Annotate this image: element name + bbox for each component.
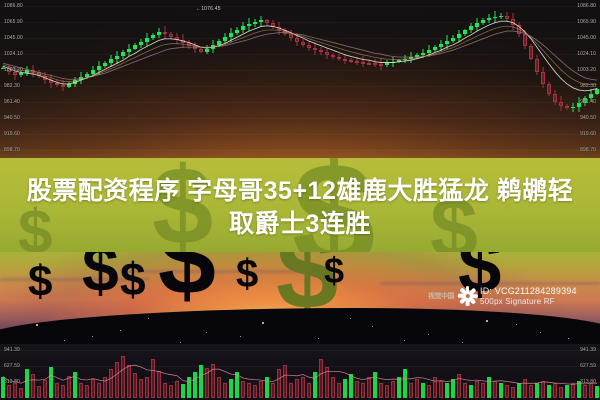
candle-body [61,85,65,87]
candlestick [385,60,389,67]
candle-body [175,37,179,40]
candlestick [181,34,185,48]
candle-body [133,45,137,49]
dollar-sign-4: $ [158,252,216,308]
volume-bar [457,374,461,399]
candlestick [259,16,263,26]
candle-body [211,45,215,49]
volume-bar [253,385,257,398]
dollar-sign-5: $ [236,256,258,293]
volume-bar [319,359,323,398]
candle-body [145,38,149,42]
price-tick-label: 1086.80 [4,3,23,9]
volume-tick-label: 941.39 [4,347,20,353]
candle-body [457,34,461,38]
candle-body [355,61,359,63]
volume-bar [487,377,491,398]
candle-body [253,22,257,24]
candle-body [97,66,101,70]
price-tick-label: 919.60 [4,131,20,137]
candlestick [109,55,113,67]
candle-body [433,47,437,50]
volume-bar [307,383,311,398]
price-tick-label: 940.50 [580,115,596,121]
volume-bar [91,379,95,398]
volume-bar [535,383,539,398]
volume-bar [337,383,341,398]
price-gridline [0,150,600,151]
candlestick [79,72,83,84]
volume-bar [571,383,575,398]
price-tick-label: 1065.90 [577,19,596,25]
volume-bar [229,379,233,398]
price-tick-label: 982.30 [4,83,20,89]
candle-body [283,30,287,34]
candle-body [535,59,539,73]
volume-bar [223,383,227,398]
candle-body [247,24,251,26]
candle-body [367,63,371,65]
price-gridline [0,102,600,103]
volume-bar [475,381,479,398]
price-gridline [0,6,600,7]
volume-bar [391,381,395,398]
candle-body [415,55,419,57]
candle-body [307,45,311,48]
candlestick [289,30,293,41]
candlestick [121,50,125,59]
volume-bar [169,385,173,398]
volume-bar [79,383,83,398]
light-speck [64,340,65,341]
candle-body [43,76,47,80]
volume-bar [547,385,551,398]
volume-bar [403,369,407,398]
candlestick [187,40,191,48]
candle-body [85,74,89,77]
headline-band: $ $ $ $ 股票配资程序 字母哥35+12雄鹿大胜猛龙 鹈鹕轻 取爵士3连胜 [0,158,600,258]
candle-body [157,32,161,35]
candlestick [103,61,107,69]
volume-bar [85,385,89,398]
volume-bar [511,387,515,398]
candlestick [349,58,353,63]
volume-bar [259,381,263,398]
candle-body [331,55,335,57]
price-tick-label: 1024.10 [577,51,596,57]
volume-bar [493,381,497,398]
volume-bar [25,369,29,398]
volume-bar [523,379,527,398]
candle-body [49,80,53,83]
candle-body [187,43,191,46]
candle-body [571,107,575,109]
candle-body [451,38,455,41]
candle-body [289,34,293,38]
candlestick [43,72,47,84]
watermark-id: ID: VCG211284289394 [480,286,577,297]
volume-bar [43,380,47,398]
candlestick [151,33,155,40]
candle-body [481,20,485,23]
volume-bar [217,377,221,398]
watermark-text: ID: VCG211284289394 500px Signature RF [480,286,577,307]
candle-body [559,102,563,107]
volume-bar [355,381,359,398]
candle-body [439,44,443,47]
candlestick [367,60,371,65]
volume-bar [235,372,239,399]
stock-news-image: 1086.801065.901045.001024.101003.20982.3… [0,0,600,400]
candle-body [223,37,227,41]
volume-bar [241,381,245,398]
light-speck [568,338,569,339]
candlestick [481,18,485,25]
price-tick-label: 940.50 [4,115,20,121]
candle-body [409,57,413,59]
volume-tick-label: 313.80 [580,379,596,385]
candle-body [295,38,299,42]
dollar-sign-2: $ [82,252,119,299]
candle-body [193,46,197,49]
volume-bar [559,387,563,398]
candle-body [139,42,143,45]
candle-body [181,40,185,43]
candlestick [49,74,53,88]
candlestick [175,33,179,44]
candlestick [421,49,425,58]
volume-bar [397,377,401,398]
candle-body [109,59,113,63]
volume-gridline [0,382,600,383]
candlestick [85,72,89,79]
volume-bar [115,362,119,398]
candle-body [271,23,275,26]
price-gridline [0,22,600,23]
candle-body [553,94,557,102]
candle-body [199,49,203,51]
candlestick [499,13,503,18]
volume-bar [295,379,299,398]
candle-body [229,33,233,37]
volume-bar [175,381,179,398]
candle-body [103,63,107,66]
candlestick [409,52,413,63]
candlestick [295,33,299,47]
candle-body [277,27,281,31]
volume-bar [7,385,11,398]
candlestick [313,42,317,55]
candlestick [445,35,449,49]
headline-line-1: 股票配资程序 字母哥35+12雄鹿大胜猛龙 鹈鹕轻 [27,176,574,208]
candlestick [529,44,533,60]
candlestick [535,55,539,75]
candlestick [133,43,137,50]
starburst-icon [457,286,477,306]
volume-bar [331,377,335,398]
candlestick [433,45,437,53]
price-tick-label: 919.60 [580,131,596,137]
candlestick [205,45,209,54]
volume-bar [49,367,53,398]
candlestick [355,57,359,65]
price-tick-label: 1065.90 [4,19,23,25]
dollar-sign-6: $ [324,254,344,287]
volume-gridline [0,366,600,367]
candle-body [31,70,35,72]
candle-body [379,64,383,66]
volume-bar [277,369,281,398]
price-tick-label: 982.30 [580,83,596,89]
candle-body [343,59,347,61]
volume-bar [19,388,23,398]
candle-body [241,26,245,29]
volume-bar [133,373,137,399]
volume-bar [181,384,185,398]
candlestick [379,58,383,70]
volume-bar [541,381,545,398]
candle-body [205,49,209,52]
volume-bar [409,383,413,398]
volume-bar [427,385,431,398]
candlestick [487,14,491,23]
volume-bar [145,377,149,398]
candle-body [463,30,467,34]
candle-body [163,32,167,34]
candlestick [127,44,131,56]
watermark-license: 500px Signature RF [480,297,577,307]
candlestick [217,39,221,47]
candlestick [343,54,347,65]
candlestick [451,35,455,43]
volume-bar [445,383,449,398]
candlestick [25,66,29,76]
candle-body [529,46,533,59]
volume-bar [271,383,275,398]
dollar-sign-3: $ [120,258,146,300]
light-speck [486,320,488,322]
volume-bar [379,383,383,398]
volume-bar [385,385,389,398]
candlestick [325,48,329,59]
candle-body [427,50,431,52]
candlestick [37,70,41,78]
price-gridline [0,134,600,135]
candlestick [253,19,257,27]
candle-body [589,94,593,99]
candle-body [73,80,77,84]
candlestick [307,41,311,52]
price-gridline [0,118,600,119]
volume-bar [517,383,521,398]
volume-bar [433,377,437,398]
volume-bar [139,379,143,398]
price-gridline [0,38,600,39]
volume-bar [211,364,215,398]
volume-bar [553,383,557,398]
price-gridline [0,70,600,71]
volume-bar [265,377,269,398]
candle-body [79,77,83,80]
candle-body [349,60,353,62]
candlestick [163,26,167,38]
volume-bar [109,369,113,398]
volume-bar [31,374,35,399]
candle-body [397,60,401,62]
candlestick [241,22,245,33]
candlestick [439,40,443,51]
candlestick [331,53,335,58]
candlestick [193,42,197,54]
candlestick [559,96,563,111]
candle-body [421,53,425,55]
candlestick [373,59,377,67]
volume-bar [415,379,419,398]
candle-body [541,72,545,84]
volume-bar [187,377,191,398]
candlestick [517,22,521,37]
candle-body [115,56,119,59]
candle-body [151,35,155,38]
candlestick [403,55,407,63]
volume-bar [301,377,305,398]
volume-bar [37,386,41,398]
candlestick [493,11,497,23]
candle-body [391,62,395,64]
price-tick-label: 1045.00 [577,35,596,41]
candle-body [265,20,269,23]
volume-bar [349,374,353,399]
candle-body [25,70,29,73]
volume-bar [103,377,107,398]
volume-gridline [0,350,600,351]
candlestick [505,12,509,23]
volume-bar [439,381,443,398]
candlestick [67,82,71,88]
candlestick [145,33,149,46]
watermark-brand-cn: 视觉中国 [428,291,454,301]
volume-bar [367,377,371,398]
volume-bar [127,365,131,398]
candle-body [547,84,551,94]
candlestick [283,28,287,36]
volume-bar [61,385,65,398]
volume-bar [469,385,473,398]
candlestick [277,22,281,35]
dollar-sign-1: $ [28,262,52,302]
price-tick-label: 898.70 [580,147,596,153]
candle-body [235,30,239,34]
candlestick [61,80,65,91]
candle-body [121,52,125,56]
price-chart-panel: 1086.801065.901045.001024.101003.20982.3… [0,0,600,160]
volume-moving-average [0,344,600,400]
watermark: 视觉中国 ID: VCG211284289394 500px Signature… [428,286,577,307]
candle-body [337,57,341,59]
ma-line-ma_fast [3,21,597,91]
candlestick [427,45,431,57]
candlestick [91,66,95,77]
candle-body [505,16,509,19]
candle-body [445,41,449,44]
candlestick [229,28,233,42]
price-gridline [0,54,600,55]
volume-bar [163,383,167,398]
candlestick [523,30,527,50]
candle-body [475,23,479,26]
volume-bar [595,386,599,398]
price-tick-label: 1003.20 [4,67,23,73]
candle-body [361,62,365,64]
candle-body [19,73,23,75]
candle-body [325,52,329,54]
volume-bar [451,379,455,398]
candle-body [385,63,389,65]
candlestick [139,39,143,48]
candlestick [337,54,341,62]
light-speck [262,322,264,324]
light-speck [404,340,405,341]
candle-body [523,34,527,46]
volume-bar [313,372,317,399]
price-tick-label: 898.70 [4,147,20,153]
candle-body [217,41,221,45]
candlestick [475,18,479,30]
volume-bar [343,379,347,398]
candle-body [91,70,95,74]
volume-bar [73,372,77,399]
candlestick [271,20,275,29]
candlestick [247,18,251,31]
candlestick [397,59,401,64]
light-speck [180,342,181,343]
candlestick [319,47,323,55]
volume-bar [67,376,71,398]
candlestick [553,90,557,105]
volume-bar [157,371,161,399]
headline-line-2: 取爵士3连胜 [229,209,371,241]
candlestick [391,57,395,67]
candlestick [73,77,77,87]
volume-tick-label: 313.80 [4,379,20,385]
price-gridline [0,86,600,87]
volume-bar [199,365,203,398]
volume-bar [289,383,293,398]
candle-body [469,26,473,30]
candlestick [565,104,569,111]
volume-bar [505,385,509,398]
candlestick [301,39,305,47]
candlestick [199,48,203,53]
candlestick [115,51,119,65]
volume-bar [205,368,209,398]
candle-body [319,50,323,52]
price-tick-label: 961.40 [580,99,596,105]
candle-body [511,19,515,25]
candlestick [157,28,161,38]
candle-body [595,89,599,94]
candlestick [223,33,227,44]
volume-bar [97,383,101,398]
candlestick [55,80,59,87]
volume-bar [463,383,467,398]
candlestick [547,82,551,96]
volume-bar [361,383,365,398]
candle-body [37,72,41,76]
volume-bar [565,385,569,398]
price-tick-label: 1003.20 [577,67,596,73]
candle-body [55,83,59,85]
